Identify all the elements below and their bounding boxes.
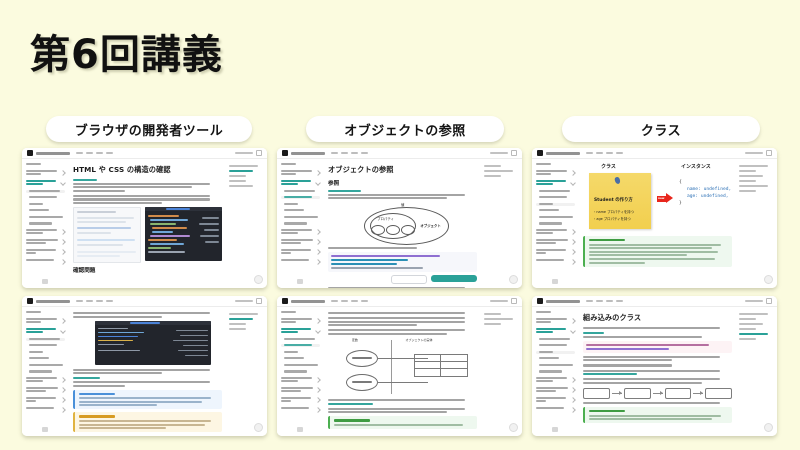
sidebar-item[interactable] <box>281 170 320 177</box>
callout-note <box>583 407 732 423</box>
sidebar-item[interactable] <box>281 407 320 412</box>
diagram-label-object: オブジェクト <box>420 223 440 228</box>
new-arrow-icon: new <box>657 193 673 204</box>
header-nav[interactable] <box>76 300 113 302</box>
thumbnail-grid: HTML や CSS の構造の確認 <box>0 148 800 444</box>
table-row <box>415 362 467 369</box>
doc-body: オブジェクトの参照 参照 値 プロパティ <box>277 159 522 288</box>
toc-item[interactable] <box>229 313 258 315</box>
toc-item[interactable] <box>229 323 246 325</box>
toc-item-active[interactable] <box>229 318 253 320</box>
sidebar-item[interactable] <box>26 209 65 212</box>
doc-page: オブジェクトの参照 参照 値 プロパティ <box>277 148 522 288</box>
doc-paragraph <box>73 195 222 204</box>
devtools-screenshot-dark <box>145 207 222 261</box>
doc-body: 変数 オブジェクトの実体 <box>277 307 522 436</box>
sidebar-item[interactable] <box>536 318 575 325</box>
sidebar-item-active[interactable] <box>26 180 65 187</box>
doc-paragraph <box>328 287 477 288</box>
table-cell <box>441 355 467 362</box>
theme-toggle-icon[interactable] <box>766 298 772 304</box>
sidebar-item[interactable] <box>536 407 575 412</box>
doc-paragraph <box>328 329 477 335</box>
sidebar-item[interactable] <box>281 318 320 325</box>
sidebar-item[interactable] <box>281 203 320 206</box>
sidebar-item[interactable] <box>281 239 320 246</box>
sidebar-item[interactable] <box>26 170 65 177</box>
sidebar[interactable] <box>277 159 323 288</box>
doc-body: 組み込みのクラス <box>532 307 777 436</box>
sidebar-item[interactable] <box>26 364 65 367</box>
code-line: name: undefined, <box>687 187 731 192</box>
sidebar[interactable] <box>22 307 68 436</box>
doc-body: クラス インスタンス Student の作り方 ・name プロパティを持つ ・… <box>532 159 777 288</box>
sidebar-item[interactable] <box>281 229 320 236</box>
code-line: { <box>679 179 731 186</box>
edit-page-button[interactable] <box>431 275 477 282</box>
sidebar-item[interactable] <box>536 357 575 360</box>
toc-item-active[interactable] <box>739 333 768 335</box>
badge-object-reference[interactable]: オブジェクトの参照 <box>306 116 504 142</box>
devtools-screenshot-dark <box>95 321 211 365</box>
sidebar-footer-icon[interactable] <box>297 427 303 432</box>
sidebar-item[interactable] <box>281 387 320 394</box>
table-cell <box>415 369 441 376</box>
chain-box <box>705 388 732 399</box>
theme-toggle-icon[interactable] <box>256 150 262 156</box>
callout-title <box>589 239 625 241</box>
toc-item[interactable] <box>739 165 768 167</box>
inheritance-chain-diagram <box>583 388 732 399</box>
toc-item[interactable] <box>739 170 756 172</box>
thumbnail-devtools-top[interactable]: HTML や CSS の構造の確認 <box>22 148 267 288</box>
site-name <box>291 152 325 155</box>
sidebar-item[interactable] <box>26 351 65 354</box>
doc-header <box>277 296 522 307</box>
doc-paragraph <box>328 408 477 414</box>
site-name <box>36 152 70 155</box>
sidebar-item[interactable] <box>281 377 320 384</box>
chain-arrow-icon <box>612 393 622 394</box>
sticky-note-bullet: ・age プロパティを持つ <box>593 216 631 221</box>
site-logo-icon <box>282 150 288 156</box>
figure-label-class: クラス <box>601 163 616 170</box>
doc-main: 組み込みのクラス <box>578 307 737 436</box>
table-row <box>415 355 467 362</box>
page-title: 第6回講義 <box>30 22 223 80</box>
callout-title <box>334 419 370 421</box>
theme-toggle-icon[interactable] <box>511 298 517 304</box>
callout-note <box>583 236 732 267</box>
site-logo-icon <box>282 298 288 304</box>
doc-subheading: 参照 <box>328 179 477 187</box>
header-nav[interactable] <box>586 300 623 302</box>
sidebar-item[interactable] <box>536 377 575 384</box>
sidebar-item[interactable] <box>536 239 575 246</box>
sidebar-item[interactable] <box>26 311 65 314</box>
sidebar-item-selected[interactable] <box>26 338 65 341</box>
doc-paragraph <box>328 317 477 326</box>
sidebar-item[interactable] <box>26 196 65 199</box>
diagram-label-property: プロパティ <box>377 216 394 221</box>
callout-title <box>589 410 625 412</box>
sidebar-item[interactable] <box>26 249 65 256</box>
sidebar-item[interactable] <box>536 170 575 177</box>
sidebar-item-active[interactable] <box>26 328 65 335</box>
doc-heading: HTML や CSS の構造の確認 <box>73 165 222 175</box>
header-actions[interactable] <box>490 298 517 304</box>
scroll-top-button[interactable] <box>764 423 773 432</box>
sidebar-item[interactable] <box>536 163 575 166</box>
toc-item[interactable] <box>229 328 246 330</box>
callout-title <box>79 415 115 417</box>
sidebar-item[interactable] <box>26 377 65 384</box>
code-block <box>328 252 477 272</box>
thumbnail-class-top[interactable]: クラス インスタンス Student の作り方 ・name プロパティを持つ ・… <box>532 148 777 288</box>
table-cell <box>441 369 467 376</box>
doc-main <box>68 307 227 436</box>
doc-paragraph <box>583 364 732 366</box>
header-link[interactable] <box>745 300 763 302</box>
thumbnail-builtin-class[interactable]: 組み込みのクラス <box>532 296 777 436</box>
sidebar-item[interactable] <box>26 397 65 404</box>
toc-item[interactable] <box>484 165 501 167</box>
theme-toggle-icon[interactable] <box>766 150 772 156</box>
doc-paragraph <box>583 370 732 376</box>
sidebar-item-selected[interactable] <box>281 344 320 347</box>
sidebar-item[interactable] <box>281 357 320 360</box>
doc-page <box>22 296 267 436</box>
header-actions[interactable] <box>235 298 262 304</box>
callout-note-info <box>73 390 222 410</box>
toc-item[interactable] <box>229 180 246 182</box>
sidebar-item[interactable] <box>536 196 575 199</box>
badge-row: ブラウザの開発者ツール オブジェクトの参照 クラス <box>0 116 800 142</box>
sidebar-item-selected[interactable] <box>536 203 575 206</box>
diagram-caption-right: オブジェクトの実体 <box>405 338 432 342</box>
sidebar-footer-icon[interactable] <box>297 279 303 284</box>
table-of-contents[interactable] <box>737 307 777 436</box>
sidebar-item[interactable] <box>281 216 320 219</box>
toc-item[interactable] <box>229 185 253 187</box>
sidebar-item-active[interactable] <box>536 328 575 335</box>
sidebar-item[interactable] <box>26 407 65 412</box>
chain-arrow-icon <box>693 393 703 394</box>
sidebar-item[interactable] <box>536 216 575 219</box>
sidebar-item[interactable] <box>26 259 65 264</box>
toc-item[interactable] <box>739 175 763 177</box>
toc-item[interactable] <box>229 175 246 177</box>
doc-header <box>22 296 267 307</box>
toc-item-active[interactable] <box>229 170 253 172</box>
doc-paragraph <box>583 327 732 329</box>
site-name <box>546 152 580 155</box>
scroll-top-button[interactable] <box>764 275 773 284</box>
sidebar-item[interactable] <box>281 370 320 373</box>
sidebar[interactable] <box>532 307 578 436</box>
sidebar-item[interactable] <box>536 344 575 347</box>
chain-box <box>624 388 651 399</box>
arrow-label: new <box>658 196 664 200</box>
doc-heading: オブジェクトの参照 <box>328 165 477 175</box>
sidebar-item-active[interactable] <box>281 328 320 335</box>
sidebar-item[interactable] <box>26 222 65 225</box>
site-name <box>291 300 325 303</box>
doc-paragraph <box>73 369 222 375</box>
doc-paragraph <box>328 190 477 199</box>
header-nav[interactable] <box>331 152 368 154</box>
sidebar-item[interactable] <box>281 209 320 212</box>
doc-paragraph <box>583 356 732 362</box>
object-reference-diagram: 値 プロパティ オブジェクト <box>328 203 477 245</box>
table-cell <box>415 355 441 362</box>
thumbnail-object-reference-top[interactable]: オブジェクトの参照 参照 値 プロパティ <box>277 148 522 288</box>
sidebar-item[interactable] <box>536 311 575 314</box>
sidebar-item[interactable] <box>26 318 65 325</box>
sticky-note-title: Student の作り方 <box>594 197 633 203</box>
doc-paragraph <box>583 378 732 384</box>
diagram-label-value: 値 <box>401 202 404 207</box>
sidebar-item[interactable] <box>26 387 65 394</box>
scroll-top-button[interactable] <box>254 275 263 284</box>
sidebar[interactable] <box>277 307 323 436</box>
header-nav[interactable] <box>586 152 623 154</box>
header-nav[interactable] <box>331 300 368 302</box>
sidebar-item[interactable] <box>536 387 575 394</box>
doc-paragraph <box>328 247 477 249</box>
sidebar-item[interactable] <box>281 259 320 264</box>
chain-box <box>665 388 692 399</box>
table-of-contents[interactable] <box>227 307 267 436</box>
sidebar-item[interactable] <box>26 203 65 206</box>
header-link[interactable] <box>745 152 763 154</box>
sidebar-footer-icon[interactable] <box>42 279 48 284</box>
sidebar-footer-icon[interactable] <box>552 427 558 432</box>
theme-toggle-icon[interactable] <box>511 150 517 156</box>
toc-item[interactable] <box>484 323 501 325</box>
header-nav[interactable] <box>76 152 113 154</box>
sidebar[interactable] <box>22 159 68 288</box>
toc-item[interactable] <box>484 313 501 315</box>
header-actions[interactable] <box>490 150 517 156</box>
sidebar-item[interactable] <box>26 357 65 360</box>
badge-class[interactable]: クラス <box>562 116 760 142</box>
doc-paragraph <box>73 179 222 192</box>
sidebar-item-active[interactable] <box>281 180 320 187</box>
sidebar-item[interactable] <box>536 249 575 256</box>
doc-body: HTML や CSS の構造の確認 <box>22 159 267 288</box>
toc-item[interactable] <box>484 175 501 177</box>
sidebar-item-selected[interactable] <box>281 196 320 199</box>
theme-toggle-icon[interactable] <box>256 298 262 304</box>
sidebar-item[interactable] <box>26 239 65 246</box>
sidebar-item[interactable] <box>281 311 320 314</box>
sidebar-item[interactable] <box>26 216 65 219</box>
toc-item[interactable] <box>229 165 258 167</box>
sidebar-item[interactable] <box>281 338 320 341</box>
sidebar-item[interactable] <box>26 344 65 347</box>
sidebar-item[interactable] <box>536 364 575 367</box>
callout-title <box>79 393 115 395</box>
doc-header <box>532 296 777 307</box>
doc-page: 組み込みのクラス <box>532 296 777 436</box>
doc-page: HTML や CSS の構造の確認 <box>22 148 267 288</box>
table-row <box>415 369 467 376</box>
sidebar-footer-icon[interactable] <box>42 427 48 432</box>
instance-code: { name: undefined, age: undefined, } <box>679 179 731 207</box>
sidebar-footer-icon[interactable] <box>552 279 558 284</box>
sidebar-item[interactable] <box>536 397 575 404</box>
code-block <box>583 341 732 353</box>
chain-box <box>583 388 610 399</box>
code-line: age: undefined, <box>687 194 729 199</box>
header-actions[interactable] <box>745 298 772 304</box>
sidebar-item-active[interactable] <box>536 180 575 187</box>
doc-main: クラス インスタンス Student の作り方 ・name プロパティを持つ ・… <box>578 159 737 288</box>
thumbnail-object-reference-bottom[interactable]: 変数 オブジェクトの実体 <box>277 296 522 436</box>
sticky-note-bullet: ・name プロパティを持つ <box>593 209 634 214</box>
doc-page: クラス インスタンス Student の作り方 ・name プロパティを持つ ・… <box>532 148 777 288</box>
doc-paragraph <box>583 332 732 338</box>
sidebar-item[interactable] <box>536 259 575 264</box>
toc-item[interactable] <box>739 338 756 340</box>
doc-paragraph <box>328 312 477 314</box>
header-link[interactable] <box>490 300 508 302</box>
table-of-contents[interactable] <box>482 159 522 288</box>
site-logo-icon <box>537 298 543 304</box>
toc-item[interactable] <box>739 323 763 325</box>
sticky-note: Student の作り方 ・name プロパティを持つ ・age プロパティを持… <box>589 173 651 229</box>
toc-item[interactable] <box>484 318 513 320</box>
doc-header <box>532 148 777 159</box>
browser-screenshot-light <box>73 207 141 263</box>
table-of-contents[interactable] <box>227 159 267 288</box>
sidebar-item[interactable] <box>281 163 320 166</box>
sidebar-item[interactable] <box>536 190 575 193</box>
class-instance-figure: クラス インスタンス Student の作り方 ・name プロパティを持つ ・… <box>583 163 732 233</box>
table-of-contents[interactable] <box>737 159 777 288</box>
header-link[interactable] <box>235 300 253 302</box>
toc-item[interactable] <box>739 185 768 187</box>
code-line: } <box>679 200 731 207</box>
sidebar-item[interactable] <box>26 229 65 236</box>
pager-buttons[interactable] <box>328 275 477 284</box>
table-cell <box>415 362 441 369</box>
toc-item[interactable] <box>739 318 756 320</box>
sidebar-item[interactable] <box>536 338 575 341</box>
sidebar-item[interactable] <box>281 351 320 354</box>
table-cell <box>441 362 467 369</box>
doc-paragraph <box>73 312 222 318</box>
sidebar-item[interactable] <box>281 249 320 256</box>
sidebar[interactable] <box>532 159 578 288</box>
diagram-caption-left: 変数 <box>352 338 358 342</box>
sidebar-item[interactable] <box>281 364 320 367</box>
pin-icon <box>614 176 621 184</box>
toc-item[interactable] <box>739 180 756 182</box>
scroll-top-button[interactable] <box>509 423 518 432</box>
doc-main: オブジェクトの参照 参照 値 プロパティ <box>323 159 482 288</box>
doc-paragraph <box>328 399 477 405</box>
doc-heading: 組み込みのクラス <box>583 313 732 323</box>
sidebar-item[interactable] <box>281 190 320 193</box>
scroll-top-button[interactable] <box>509 275 518 284</box>
site-logo-icon <box>27 298 33 304</box>
prev-page-button[interactable] <box>391 275 427 284</box>
sidebar-item-selected[interactable] <box>536 351 575 354</box>
toc-item[interactable] <box>739 190 756 192</box>
site-logo-icon <box>27 150 33 156</box>
site-name <box>36 300 70 303</box>
callout-note <box>328 416 477 429</box>
doc-main: 変数 オブジェクトの実体 <box>323 307 482 436</box>
doc-paragraph <box>73 377 222 386</box>
sidebar-item[interactable] <box>281 222 320 225</box>
doc-paragraph <box>583 402 732 404</box>
reference-diagram: 変数 オブジェクトの実体 <box>328 338 477 396</box>
sidebar-item[interactable] <box>281 397 320 404</box>
variable-node <box>346 374 378 391</box>
doc-header <box>22 148 267 159</box>
thumbnail-devtools-bottom[interactable] <box>22 296 267 436</box>
header-actions[interactable] <box>745 150 772 156</box>
figure-label-instance: インスタンス <box>681 163 711 170</box>
slide-root: 第6回講義 ブラウザの開発者ツール オブジェクトの参照 クラス <box>0 0 800 450</box>
doc-main: HTML や CSS の構造の確認 <box>68 159 227 288</box>
sidebar-item[interactable] <box>536 370 575 373</box>
sidebar-item-selected[interactable] <box>26 190 65 193</box>
header-link[interactable] <box>490 152 508 154</box>
header-link[interactable] <box>235 152 253 154</box>
scroll-top-button[interactable] <box>254 423 263 432</box>
sidebar-item[interactable] <box>26 370 65 373</box>
sidebar-item[interactable] <box>536 209 575 212</box>
toc-item[interactable] <box>484 170 513 172</box>
object-table <box>414 354 468 377</box>
site-logo-icon <box>537 150 543 156</box>
doc-page: 変数 オブジェクトの実体 <box>277 296 522 436</box>
header-actions[interactable] <box>235 150 262 156</box>
sidebar-item[interactable] <box>536 229 575 236</box>
sidebar-item[interactable] <box>26 163 65 166</box>
doc-body <box>22 307 267 436</box>
site-name <box>546 300 580 303</box>
chain-arrow-icon <box>653 393 663 394</box>
doc-subheading: 確認問題 <box>73 266 222 274</box>
table-of-contents[interactable] <box>482 307 522 436</box>
callout-note-warning <box>73 412 222 432</box>
variable-node <box>346 350 378 367</box>
toc-item[interactable] <box>739 313 768 315</box>
sidebar-item[interactable] <box>536 222 575 225</box>
badge-devtools[interactable]: ブラウザの開発者ツール <box>46 116 252 142</box>
doc-header <box>277 148 522 159</box>
toc-item[interactable] <box>739 328 756 330</box>
